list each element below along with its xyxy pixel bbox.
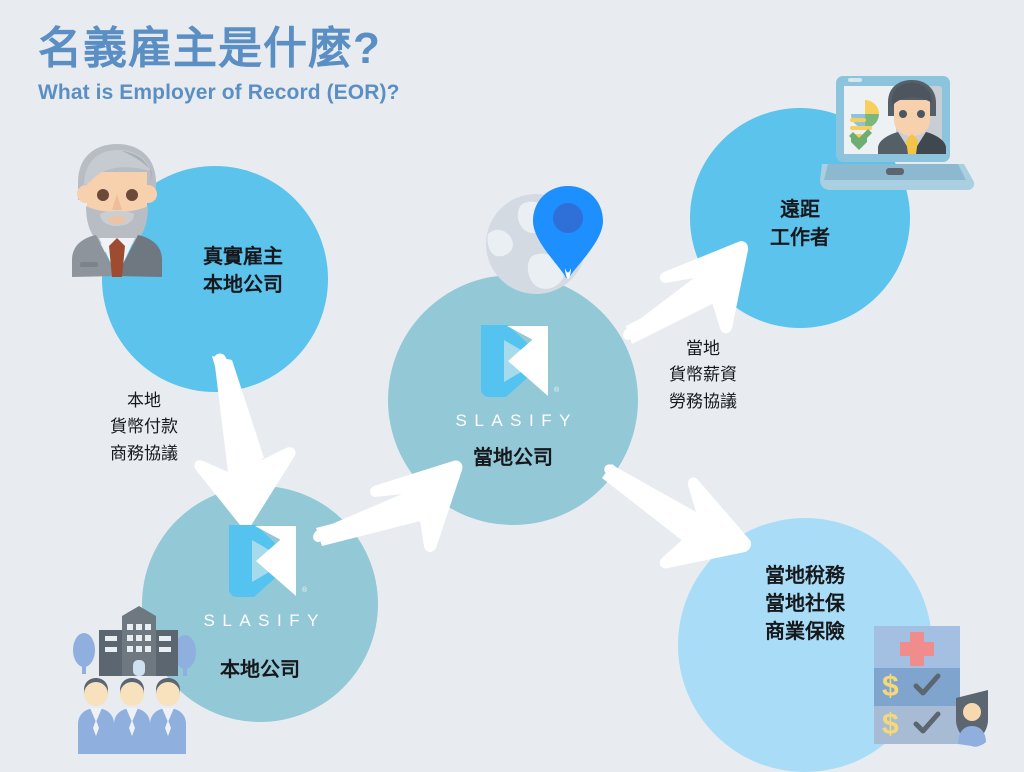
slasify-play-logo-icon: ® (196, 518, 326, 606)
connector-label-left-flow: 本地 貨幣付款 商務協議 (80, 388, 208, 467)
node-label-local-company-left: 本地公司 (178, 656, 342, 684)
slasify-logo-lockup-left: ® SLASIFY (196, 518, 326, 631)
arrow-down-right-to-local-costs-icon (602, 464, 751, 568)
node-label-line: 真實雇主 (158, 243, 328, 271)
connector-label-worker-flow: 當地 貨幣薪資 勞務協議 (638, 336, 768, 415)
node-label-remote-worker: 遠距 工作者 (715, 196, 885, 252)
node-label-true-employer: 真實雇主 本地公司 (158, 243, 328, 299)
arrow-up-right-to-remote-worker-icon (623, 241, 748, 344)
arrow-down-right-to-local-company-icon (194, 354, 295, 528)
node-label-line: 工作者 (715, 224, 885, 252)
node-label-line: 當地社保 (700, 590, 910, 618)
connector-label-line: 貨幣薪資 (638, 362, 768, 388)
registered-mark: ® (302, 586, 308, 594)
connector-label-line: 本地 (80, 388, 208, 414)
node-label-local-costs: 當地稅務 當地社保 商業保險 (700, 562, 910, 646)
node-label-line: 當地稅務 (700, 562, 910, 590)
slasify-logo-lockup-center: ® SLASIFY (448, 318, 578, 431)
connector-label-line: 貨幣付款 (80, 414, 208, 440)
slasify-play-logo-icon: ® (448, 318, 578, 406)
connector-label-line: 當地 (638, 336, 768, 362)
arrow-up-right-to-slasify-icon (313, 461, 462, 552)
node-label-slasify-local-company: 當地公司 (428, 444, 598, 472)
registered-mark: ® (554, 386, 560, 394)
node-label-line: 本地公司 (158, 271, 328, 299)
connector-label-line: 商務協議 (80, 441, 208, 467)
connector-label-line: 勞務協議 (638, 389, 768, 415)
node-label-line: 遠距 (715, 196, 885, 224)
slasify-wordmark: SLASIFY (448, 411, 578, 431)
slasify-wordmark: SLASIFY (196, 611, 326, 631)
infographic-canvas: 名義雇主是什麼? What is Employer of Record (EOR… (0, 0, 1024, 768)
node-label-line: 商業保險 (700, 618, 910, 646)
